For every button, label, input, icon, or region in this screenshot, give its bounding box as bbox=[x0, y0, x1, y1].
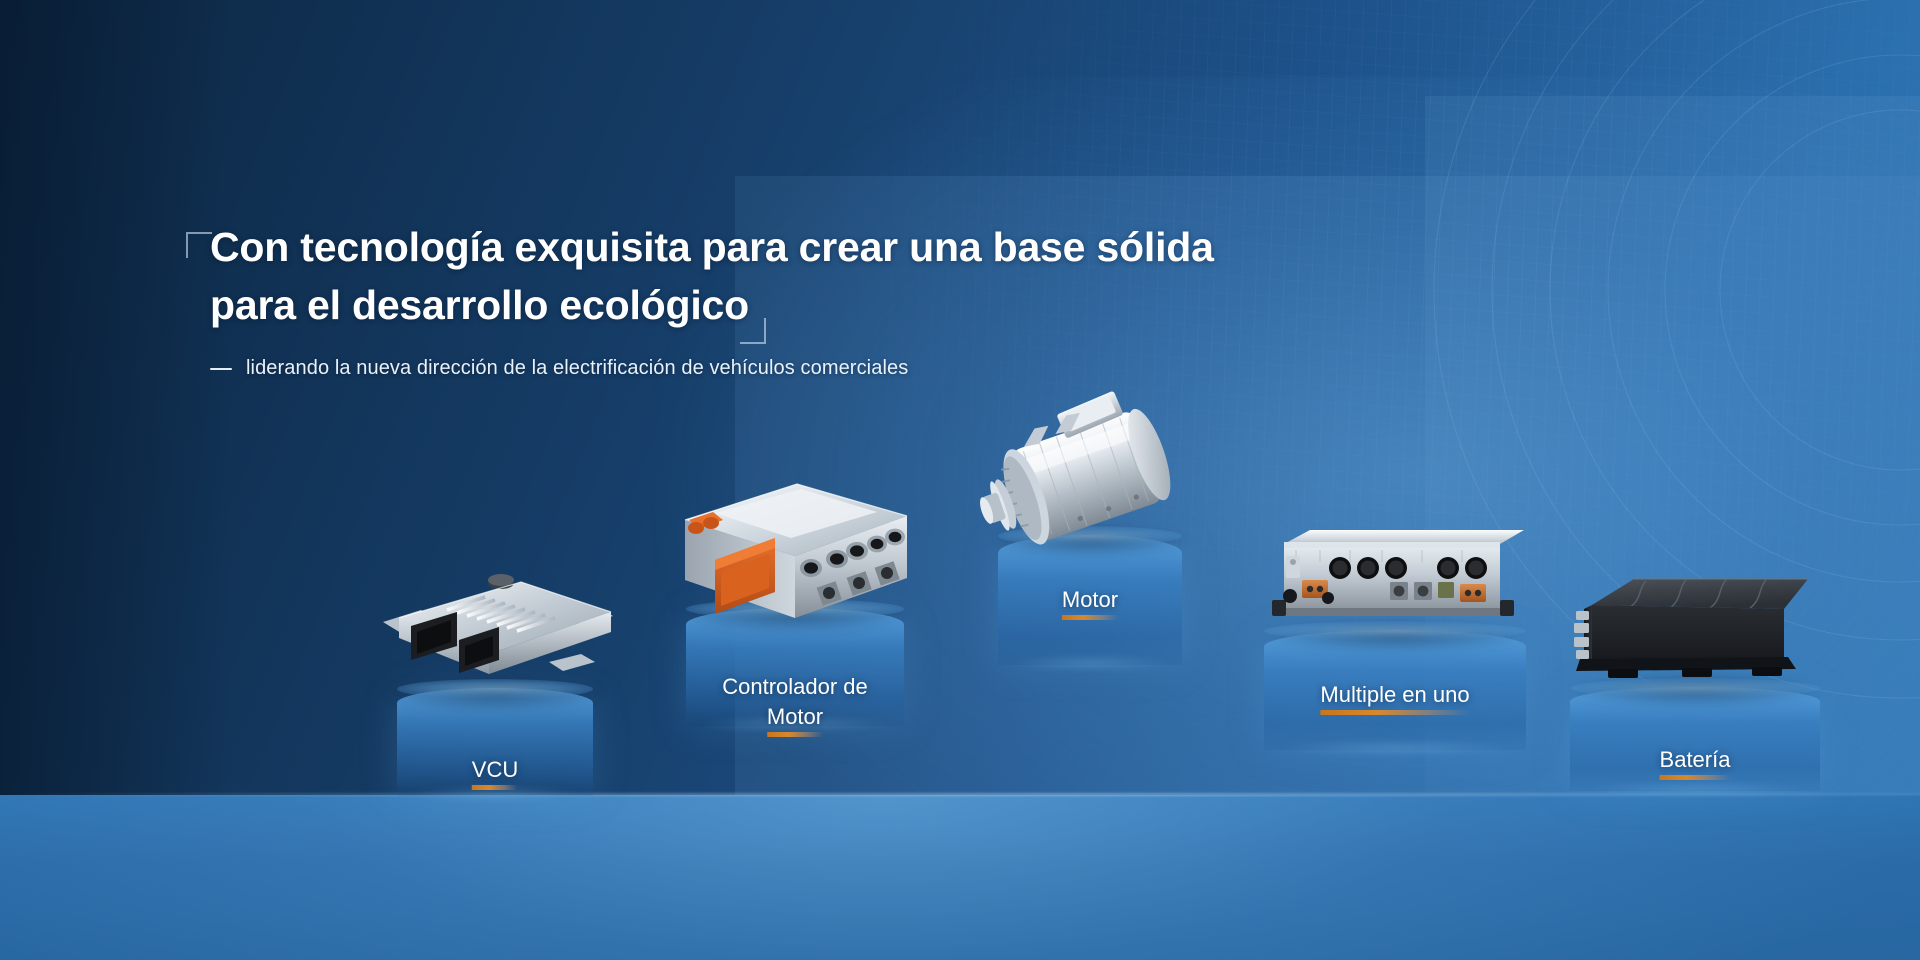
product-item-battery[interactable]: Batería bbox=[1535, 555, 1855, 805]
em-dash-icon bbox=[210, 368, 232, 370]
page-subtitle: liderando la nueva dirección de la elect… bbox=[210, 357, 1246, 380]
page-subtitle-text: liderando la nueva dirección de la elect… bbox=[246, 357, 908, 380]
product-item-motor-controller[interactable]: Controlador de Motor bbox=[645, 480, 945, 760]
product-label-multi-in-one: Multiple en uno bbox=[1320, 680, 1469, 713]
product-item-multi-in-one[interactable]: Multiple en uno bbox=[1235, 510, 1555, 780]
product-label-motor: Motor bbox=[1062, 585, 1118, 618]
vcu-controller-icon bbox=[373, 550, 617, 700]
product-label-motor-text: Motor bbox=[1062, 585, 1118, 618]
product-item-motor[interactable]: Motor bbox=[940, 405, 1240, 705]
multi-in-one-icon bbox=[1262, 526, 1528, 636]
page-title: Con tecnología exquisita para crear una … bbox=[210, 218, 1246, 334]
product-label-motor-controller-line1: Controlador de bbox=[722, 674, 868, 699]
product-label-motor-controller-line2: Motor bbox=[767, 702, 823, 736]
product-label-battery-text: Batería bbox=[1660, 745, 1731, 778]
product-label-motor-controller: Controlador de Motor bbox=[722, 672, 868, 735]
product-label-battery: Batería bbox=[1660, 745, 1731, 778]
electric-motor-icon bbox=[975, 391, 1205, 556]
hero-banner: Con tecnología exquisita para crear una … bbox=[0, 0, 1920, 960]
battery-pack-icon bbox=[1570, 565, 1820, 695]
background-floor bbox=[0, 795, 1920, 960]
product-label-vcu: VCU bbox=[472, 755, 518, 788]
background-left-vignette bbox=[0, 0, 232, 800]
product-item-vcu[interactable]: VCU bbox=[345, 560, 645, 800]
motor-controller-icon bbox=[671, 468, 919, 628]
product-label-vcu-text: VCU bbox=[472, 755, 518, 788]
headline-block: Con tecnología exquisita para crear una … bbox=[186, 218, 1246, 380]
bracket-top-left-icon bbox=[186, 232, 212, 258]
product-label-multi-in-one-text: Multiple en uno bbox=[1320, 680, 1469, 713]
